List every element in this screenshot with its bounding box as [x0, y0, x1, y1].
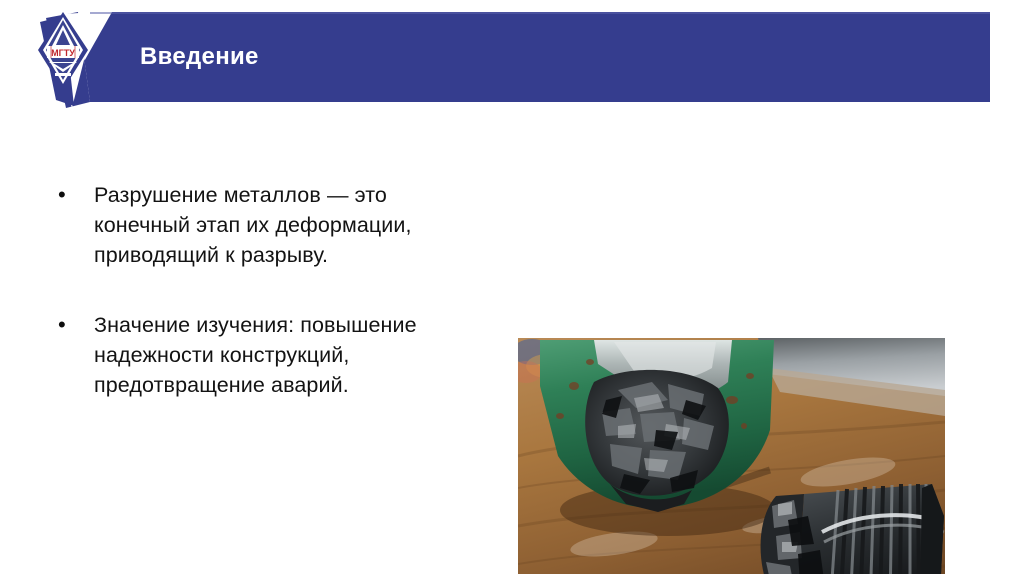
- bullet-text: Значение изучения: повышение надежности …: [94, 310, 478, 400]
- fractured-metal-shaft-photo: [518, 338, 945, 574]
- page-title: Введение: [140, 40, 840, 74]
- list-item: • Разрушение металлов — это конечный эта…: [48, 180, 478, 270]
- mgtu-logo-text: МГТУ: [51, 48, 75, 58]
- mgtu-logo: МГТУ: [36, 10, 90, 94]
- list-item: • Значение изучения: повышение надежност…: [48, 310, 478, 400]
- bullet-text: Разрушение металлов — это конечный этап …: [94, 180, 478, 270]
- bullet-list: • Разрушение металлов — это конечный эта…: [48, 180, 478, 440]
- slide-content: • Разрушение металлов — это конечный эта…: [0, 150, 1024, 550]
- bullet-point-icon: •: [48, 310, 94, 340]
- presentation-slide: МГТУ Введение • Разрушение металлов — эт…: [0, 0, 1024, 574]
- bullet-point-icon: •: [48, 180, 94, 210]
